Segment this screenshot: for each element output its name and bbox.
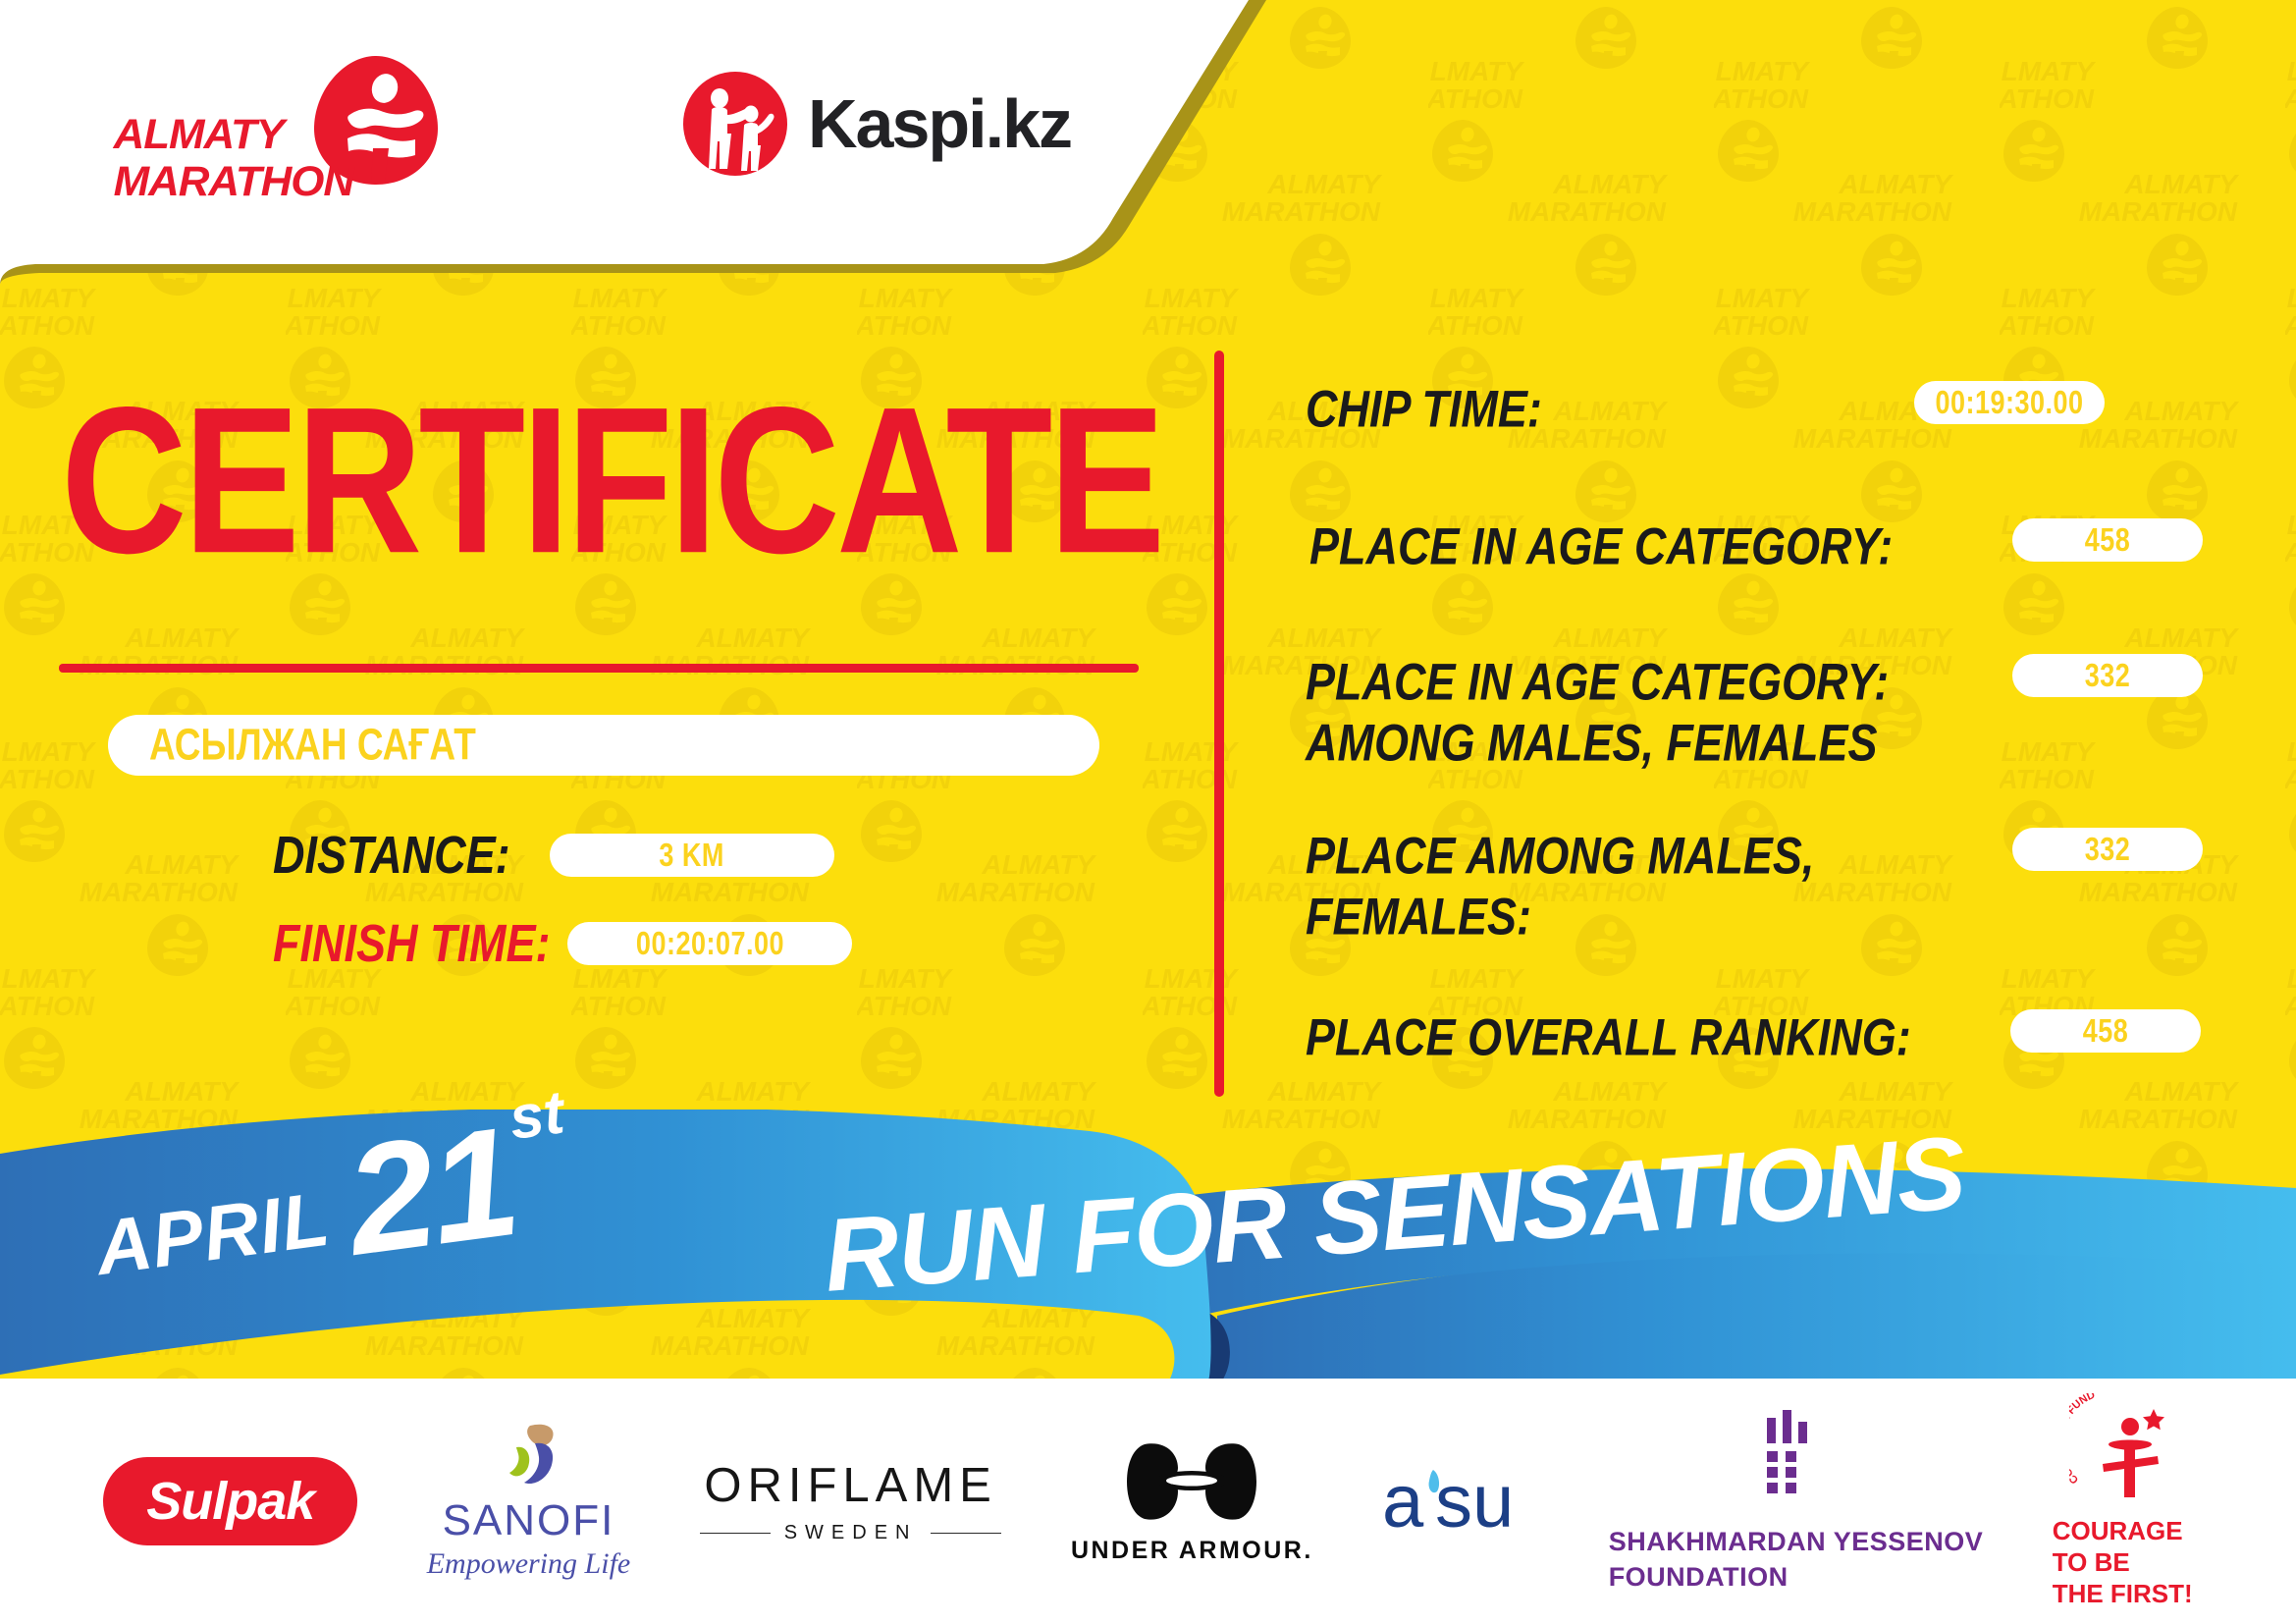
distance-label: DISTANCE: (273, 825, 510, 886)
participant-name-field: АСЫЛЖАН САҒАТ (108, 715, 1099, 776)
courage-fund-mark-icon: CORPORATE FUND (2069, 1393, 2175, 1503)
ribbon-day-suffix: st (506, 1077, 568, 1154)
yessenov-mark-icon (1765, 1408, 1826, 1498)
asu-mark-icon: a su (1382, 1456, 1539, 1546)
place-age-category-gender-row: PLACE IN AGE CATEGORY: AMONG MALES, FEMA… (1306, 646, 1889, 768)
sponsor-courage-text: COURAGE TO BE THE FIRST! (2053, 1515, 2193, 1609)
chip-time-row: CHIP TIME: (1306, 373, 1542, 434)
place-among-gender-value: 332 (2085, 831, 2131, 869)
place-age-category-gender-pill: 332 (2012, 654, 2203, 697)
oriflame-rule-left (700, 1533, 771, 1534)
place-among-gender-row: PLACE AMONG MALES, FEMALES: (1306, 820, 1814, 942)
place-age-category-label: PLACE IN AGE CATEGORY: (1309, 511, 1893, 582)
under-armour-mark-icon (1123, 1438, 1260, 1529)
sponsor-oriflame: ORIFLAME SWEDEN (700, 1458, 1002, 1544)
finish-time-pill: 00:20:07.00 (567, 922, 852, 965)
place-among-gender-label-line2: FEMALES: (1306, 881, 1531, 952)
title-underline (59, 664, 1139, 673)
sponsor-asu: a su (1382, 1456, 1539, 1546)
svg-text:su: su (1435, 1460, 1514, 1543)
sponsor-sanofi-tagline: Empowering Life (427, 1547, 631, 1581)
kaspi-logo: Kaspi.kz (682, 71, 1071, 177)
svg-text:CORPORATE FUND: CORPORATE FUND (2069, 1393, 2097, 1486)
distance-row: DISTANCE: 3 KM (273, 830, 834, 881)
sponsor-courage-fund: CORPORATE FUND COURAGE TO BE THE FIRST! (2053, 1393, 2193, 1609)
certificate-page: ALMATY MARATHON Kaspi.kz CERTIFICATE АСЫ… (0, 0, 2296, 1624)
place-overall-value: 458 (2083, 1012, 2129, 1051)
sponsor-courage-line1: COURAGE (2053, 1515, 2193, 1546)
sponsor-oriflame-text: ORIFLAME (704, 1458, 996, 1513)
kaspi-wordmark: Kaspi.kz (808, 84, 1071, 163)
chip-time-label: CHIP TIME: (1306, 373, 1542, 445)
sponsor-sanofi: SANOFI Empowering Life (427, 1422, 631, 1581)
sponsor-oriflame-tagline: SWEDEN (784, 1522, 918, 1544)
chip-time-pill: 00:19:30.00 (1914, 381, 2105, 424)
kaspi-figures-mark-icon (682, 71, 788, 177)
sponsor-oriflame-subline: SWEDEN (700, 1522, 1002, 1544)
place-overall-row: PLACE OVERALL RANKING: (1306, 1001, 1911, 1062)
place-age-category-gender-value: 332 (2085, 657, 2131, 695)
participant-name-value: АСЫЛЖАН САҒАТ (149, 720, 476, 770)
place-age-category-row: PLACE IN AGE CATEGORY: (1309, 511, 1893, 571)
sponsor-bar: Sulpak SANOFI Empowering Life ORIFLAME S… (0, 1379, 2296, 1624)
finish-time-value: 00:20:07.00 (636, 925, 784, 963)
chip-time-value: 00:19:30.00 (1935, 384, 2083, 422)
finish-time-label: FINISH TIME: (273, 913, 550, 974)
svg-text:a: a (1382, 1460, 1424, 1543)
almaty-marathon-wordmark: ALMATY MARATHON (114, 111, 353, 205)
courage-fund-arc-text: CORPORATE FUND (2069, 1393, 2097, 1486)
almaty-logo-line2: MARATHON (114, 158, 353, 205)
ribbon-day: 21 (341, 1117, 522, 1266)
place-age-category-gender-label-line2: AMONG MALES, FEMALES (1306, 707, 1878, 779)
sponsor-yessenov-foundation: SHAKHMARDAN YESSENOV FOUNDATION (1609, 1408, 1984, 1595)
page-title: CERTIFICATE (61, 383, 1161, 580)
distance-value: 3 KM (659, 837, 724, 875)
almaty-logo-line1: ALMATY (114, 111, 353, 158)
sponsor-under-armour-text: UNDER ARMOUR. (1071, 1537, 1313, 1565)
oriflame-rule-right (931, 1533, 1001, 1534)
header-logos: ALMATY MARATHON Kaspi.kz (0, 0, 1266, 285)
sponsor-yessenov-line1: SHAKHMARDAN YESSENOV (1609, 1524, 1984, 1559)
place-overall-pill: 458 (2010, 1009, 2201, 1053)
sponsor-sulpak: Sulpak (103, 1457, 357, 1545)
finish-time-row: FINISH TIME: 00:20:07.00 (273, 918, 852, 969)
distance-pill: 3 KM (550, 834, 834, 877)
sanofi-mark-icon (481, 1422, 575, 1492)
sponsor-yessenov-line2: FOUNDATION (1609, 1559, 1984, 1595)
place-age-category-value: 458 (2085, 521, 2131, 560)
sponsor-sanofi-text: SANOFI (443, 1496, 615, 1545)
sponsor-courage-line3: THE FIRST! (2053, 1578, 2193, 1609)
sponsor-courage-line2: TO BE (2053, 1546, 2193, 1578)
almaty-marathon-logo: ALMATY MARATHON (116, 54, 440, 211)
sponsor-under-armour: UNDER ARMOUR. (1071, 1438, 1313, 1565)
place-age-category-pill: 458 (2012, 518, 2203, 562)
column-divider (1214, 351, 1224, 1097)
sponsor-yessenov-text: SHAKHMARDAN YESSENOV FOUNDATION (1609, 1524, 1984, 1595)
place-among-gender-pill: 332 (2012, 828, 2203, 871)
sponsor-sulpak-text: Sulpak (146, 1471, 314, 1532)
place-overall-label: PLACE OVERALL RANKING: (1306, 1001, 1911, 1073)
